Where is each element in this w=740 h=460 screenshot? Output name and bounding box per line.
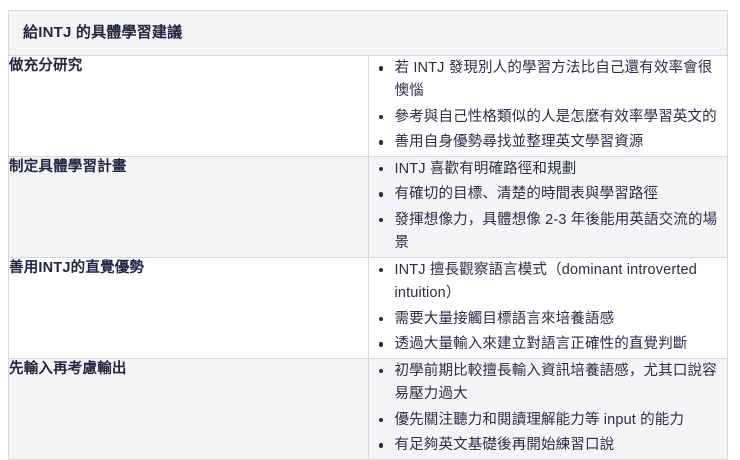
advice-table-container: 給INTJ 的具體學習建議 做充分研究 若 INTJ 發現別人的學習方法比自己還… — [8, 10, 728, 460]
list-item: 初學前期比較擅長輸入資訊培養語感，尤其口說容易壓力過大 — [395, 359, 728, 408]
table-header-row: 給INTJ 的具體學習建議 — [9, 11, 728, 56]
advice-table: 給INTJ 的具體學習建議 做充分研究 若 INTJ 發現別人的學習方法比自己還… — [8, 10, 728, 460]
list-item: 發揮想像力，具體想像 2-3 年後能用英語交流的場景 — [395, 208, 728, 257]
table-row: 先輸入再考慮輸出 初學前期比較擅長輸入資訊培養語感，尤其口說容易壓力過大 優先關… — [9, 358, 728, 459]
bullet-list: INTJ 喜歡有明確路徑和規劃 有確切的目標、清楚的時間表與學習路徑 發揮想像力… — [369, 157, 728, 257]
table-title-header: 給INTJ 的具體學習建議 — [9, 11, 728, 56]
list-item: 透過大量輸入來建立對語言正確性的直覺判斷 — [395, 332, 728, 357]
list-item: INTJ 擅長觀察語言模式（dominant introverted intui… — [395, 258, 728, 307]
topic-cell: 做充分研究 — [9, 56, 369, 157]
bullet-list: 若 INTJ 發現別人的學習方法比自己還有效率會很懊惱 參考與自己性格類似的人是… — [369, 56, 728, 156]
table-row: 做充分研究 若 INTJ 發現別人的學習方法比自己還有效率會很懊惱 參考與自己性… — [9, 56, 728, 157]
list-item: 參考與自己性格類似的人是怎麼有效率學習英文的 — [395, 105, 728, 130]
table-body: 做充分研究 若 INTJ 發現別人的學習方法比自己還有效率會很懊惱 參考與自己性… — [9, 56, 728, 460]
topic-cell: 先輸入再考慮輸出 — [9, 358, 369, 459]
detail-cell: INTJ 擅長觀察語言模式（dominant introverted intui… — [368, 257, 728, 358]
bullet-list: 初學前期比較擅長輸入資訊培養語感，尤其口說容易壓力過大 優先關注聽力和閱讀理解能… — [369, 359, 728, 459]
table-head: 給INTJ 的具體學習建議 — [9, 11, 728, 56]
page-root: 給INTJ 的具體學習建議 做充分研究 若 INTJ 發現別人的學習方法比自己還… — [0, 0, 740, 421]
topic-cell: 善用INTJ的直覺優勢 — [9, 257, 369, 358]
topic-cell: 制定具體學習計畫 — [9, 156, 369, 257]
list-item: INTJ 喜歡有明確路徑和規劃 — [395, 157, 728, 182]
list-item: 有確切的目標、清楚的時間表與學習路徑 — [395, 182, 728, 207]
detail-cell: 若 INTJ 發現別人的學習方法比自己還有效率會很懊惱 參考與自己性格類似的人是… — [368, 56, 728, 157]
list-item: 善用自身優勢尋找並整理英文學習資源 — [395, 130, 728, 155]
list-item: 若 INTJ 發現別人的學習方法比自己還有效率會很懊惱 — [395, 56, 728, 105]
detail-cell: INTJ 喜歡有明確路徑和規劃 有確切的目標、清楚的時間表與學習路徑 發揮想像力… — [368, 156, 728, 257]
bullet-list: INTJ 擅長觀察語言模式（dominant introverted intui… — [369, 258, 728, 358]
list-item: 需要大量接觸目標語言來培養語感 — [395, 307, 728, 332]
list-item: 有足夠英文基礎後再開始練習口說 — [395, 433, 728, 458]
table-row: 制定具體學習計畫 INTJ 喜歡有明確路徑和規劃 有確切的目標、清楚的時間表與學… — [9, 156, 728, 257]
table-row: 善用INTJ的直覺優勢 INTJ 擅長觀察語言模式（dominant intro… — [9, 257, 728, 358]
detail-cell: 初學前期比較擅長輸入資訊培養語感，尤其口說容易壓力過大 優先關注聽力和閱讀理解能… — [368, 358, 728, 459]
